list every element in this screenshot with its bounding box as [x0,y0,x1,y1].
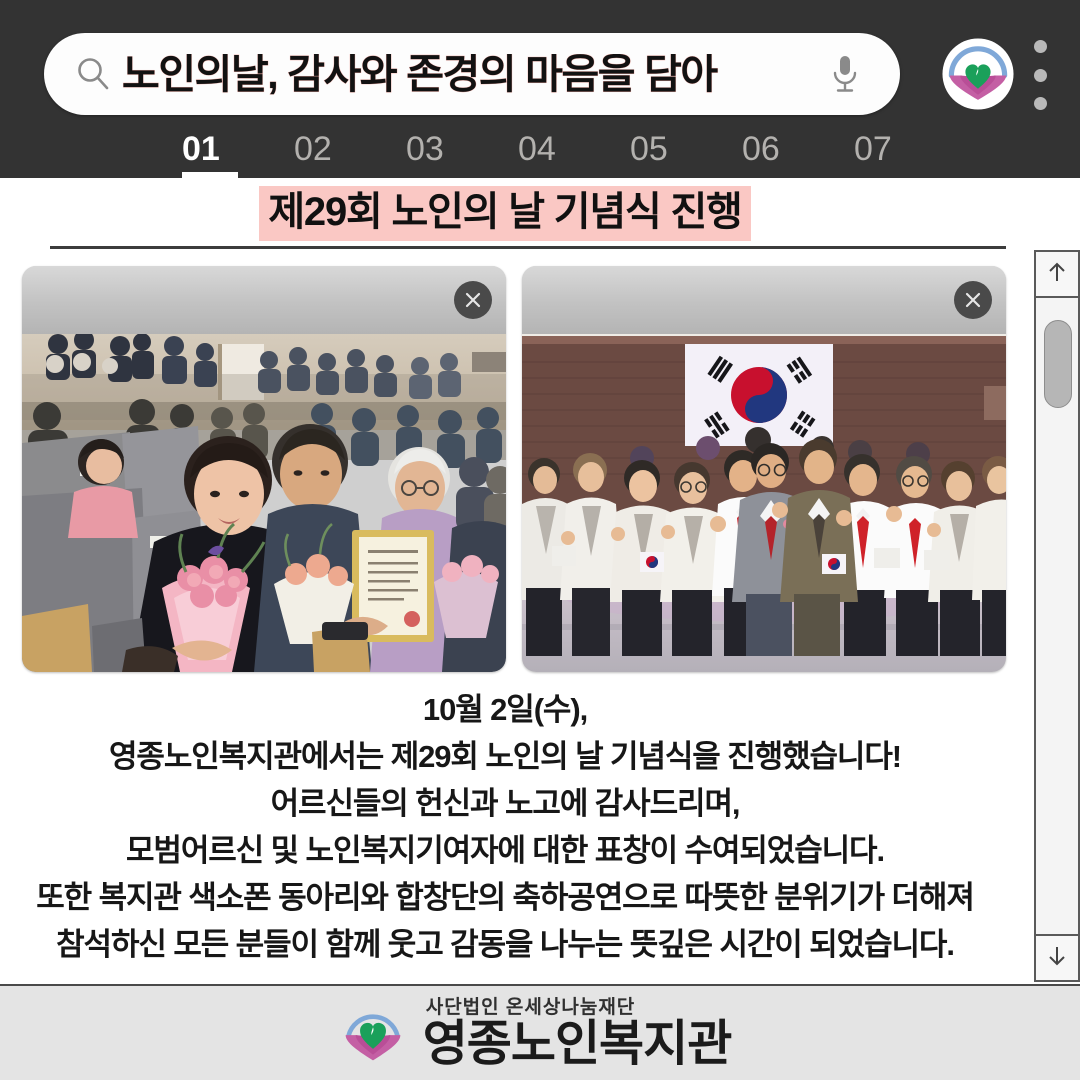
arrow-down-icon [1044,943,1070,974]
close-icon[interactable] [454,281,492,319]
arrow-up-icon [1044,259,1070,290]
kebab-dot-1 [1034,40,1047,53]
tab-07[interactable]: 07 [854,128,966,170]
search-icon[interactable] [74,55,112,93]
search-input[interactable]: 노인의날, 감사와 존경의 마음을 담아 [122,54,822,95]
photo-gallery [22,266,1006,672]
article-body: 10월 2일(수), 영종노인복지관에서는 제29회 노인의 날 기념식을 진행… [0,686,1010,968]
photo-2-topbar [522,266,1006,334]
microphone-icon[interactable] [828,52,862,96]
body-line-3: 어르신들의 헌신과 노고에 감사드리며, [0,780,1010,827]
photo-card-1[interactable] [22,266,506,672]
footer-logo-icon [337,997,409,1069]
app-header: 노인의날, 감사와 존경의 마음을 담아 [0,0,1080,178]
search-bar[interactable]: 노인의날, 감사와 존경의 마음을 담아 [44,33,900,115]
kebab-dot-3 [1034,97,1047,110]
vertical-scrollbar[interactable] [1034,252,1080,980]
tab-05[interactable]: 05 [630,128,742,170]
page-root: 노인의날, 감사와 존경의 마음을 담아 [0,0,1080,1080]
scrollbar-thumb[interactable] [1044,320,1072,408]
body-line-6: 참석하신 모든 분들이 함께 웃고 감동을 나누는 뜻깊은 시간이 되었습니다. [0,921,1010,968]
close-icon[interactable] [954,281,992,319]
tab-04[interactable]: 04 [518,128,630,170]
site-footer: 사단법인 온세상나눔재단 영종노인복지관 [0,984,1080,1080]
footer-text-block: 사단법인 온세상나눔재단 영종노인복지관 [423,998,732,1069]
title-divider [50,246,1006,249]
page-title-wrap: 제29회 노인의 날 기념식 진행 [0,186,1010,241]
body-line-1: 10월 2일(수), [0,686,1010,733]
page-tabs: 01 02 03 04 05 06 07 [0,128,1080,178]
body-line-4: 모범어르신 및 노인복지기여자에 대한 표창이 수여되었습니다. [0,827,1010,874]
page-title: 제29회 노인의 날 기념식 진행 [259,186,750,241]
body-line-2: 영종노인복지관에서는 제29회 노인의 날 기념식을 진행했습니다! [0,733,1010,780]
brand-logo[interactable] [941,37,1015,111]
search-row: 노인의날, 감사와 존경의 마음을 담아 [0,0,1080,130]
tab-02[interactable]: 02 [294,128,406,170]
tab-01[interactable]: 01 [182,128,294,170]
footer-org-name: 영종노인복지관 [423,1020,732,1069]
scroll-down-button[interactable] [1034,934,1080,982]
scroll-up-button[interactable] [1034,250,1080,298]
footer-brand[interactable]: 사단법인 온세상나눔재단 영종노인복지관 [337,997,732,1069]
tab-06[interactable]: 06 [742,128,854,170]
footer-org-sub: 사단법인 온세상나눔재단 [426,998,732,1017]
kebab-dot-2 [1034,69,1047,82]
kebab-menu-icon[interactable] [1031,40,1049,110]
photo-card-2[interactable] [522,266,1006,672]
photo-1-topbar [22,266,506,334]
body-line-5: 또한 복지관 색소폰 동아리와 합창단의 축하공연으로 따뜻한 분위기가 더해져 [0,874,1010,921]
tab-03[interactable]: 03 [406,128,518,170]
